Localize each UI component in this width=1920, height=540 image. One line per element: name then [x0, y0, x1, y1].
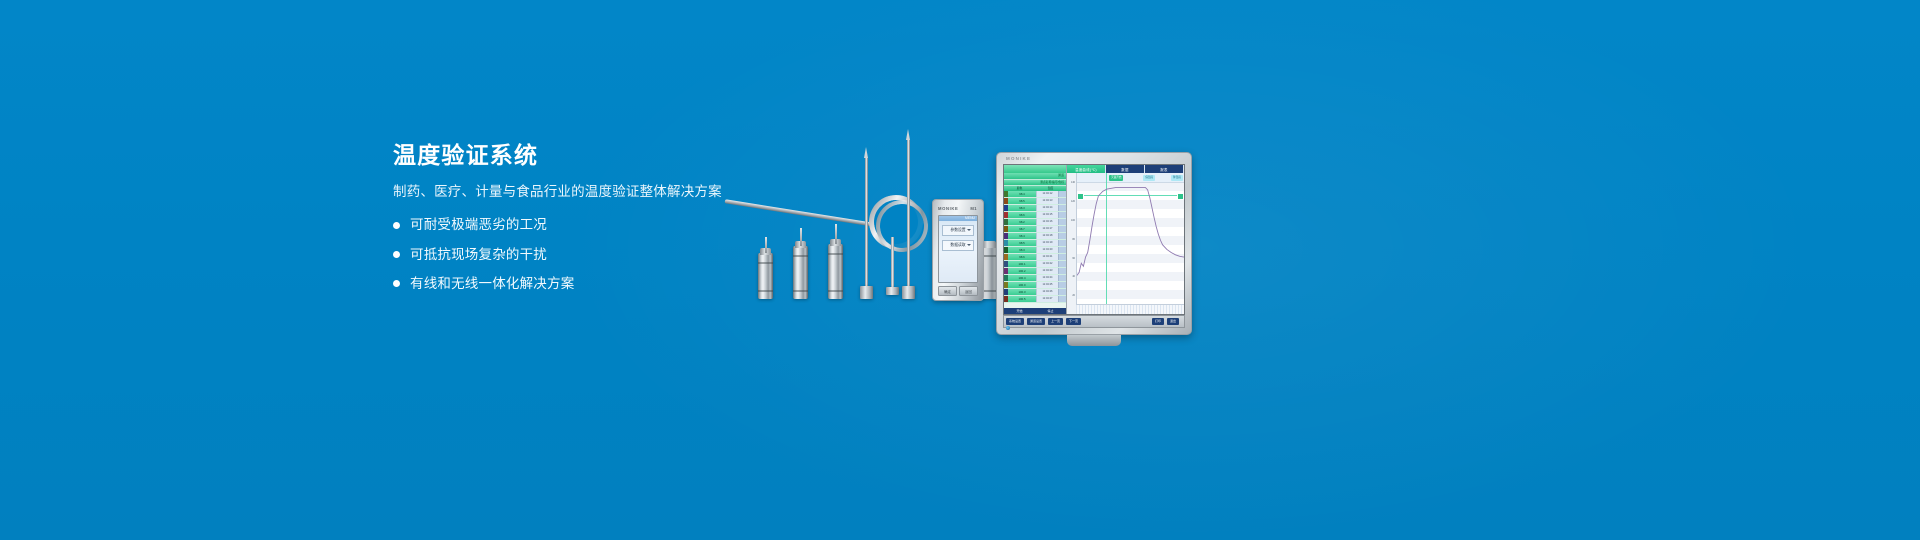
chart-y-tick: 140 — [1071, 181, 1075, 184]
bullet-dot-icon — [393, 222, 400, 229]
channel-temperature-value: 98.2 — [1008, 219, 1036, 225]
coil-probe-stem — [891, 237, 894, 289]
sensor-probe-small-3 — [828, 244, 843, 299]
chart-y-tick: 100 — [1071, 219, 1075, 222]
monitor-screen[interactable]: 温度曲线(℃) 数据 报表 通道 测点名称/编号/色标 颜色 温度 — [1003, 164, 1185, 315]
toolbar-button[interactable]: 上一页 — [1048, 318, 1063, 325]
chart-y-tick: 60 — [1072, 257, 1075, 260]
channel-timestamp: 11:04:21 — [1036, 254, 1058, 260]
channel-timestamp: 11:04:17 — [1036, 226, 1058, 232]
chevron-down-icon — [967, 229, 971, 231]
monitor-stand — [1067, 335, 1121, 346]
table-row[interactable]: 98.411:04:18 — [1004, 233, 1066, 240]
handheld-confirm-button[interactable]: 确定 — [938, 286, 957, 296]
channel-status-cell — [1058, 254, 1066, 260]
handheld-reader[interactable]: MONIKE M1 MENU 参数设置 数据读取 确定 返回 — [932, 199, 984, 301]
channel-timestamp: 11:04:12 — [1036, 191, 1058, 197]
sensor-ring — [793, 255, 808, 257]
channel-timestamp: 11:04:26 — [1036, 289, 1058, 295]
table-row[interactable]: 100.011:04:25 — [1004, 282, 1066, 289]
page-subtitle: 制药、医疗、计量与食品行业的温度验证整体解决方案 — [393, 184, 753, 200]
channel-status-cell — [1058, 289, 1066, 295]
chevron-down-icon — [967, 244, 971, 246]
table-row[interactable]: 98.511:04:19 — [1004, 240, 1066, 247]
coil-probe-ferrule — [886, 287, 899, 295]
handheld-menu-row[interactable]: 数据读取 — [942, 240, 974, 251]
sensor-ring — [793, 290, 808, 292]
channel-temperature-value: 98.3 — [1008, 205, 1036, 211]
handheld-menu-label: MENU — [965, 216, 975, 220]
chart-x-axis — [1076, 304, 1184, 314]
sensor-antenna — [765, 237, 767, 253]
channel-timestamp: 11:04:19 — [1036, 240, 1058, 246]
start-button[interactable]: 开始 — [1004, 308, 1035, 314]
hero-banner: 温度验证系统 制药、医疗、计量与食品行业的温度验证整体解决方案 可耐受极端恶劣的… — [0, 0, 1920, 540]
channel-status-cell — [1058, 191, 1066, 197]
channel-temperature-value: 98.4 — [1008, 191, 1036, 197]
channel-temperature-value: 100.3 — [1008, 289, 1036, 295]
table-row[interactable]: 100.411:04:24 — [1004, 275, 1066, 282]
channel-timestamp: 11:04:15 — [1036, 212, 1058, 218]
handheld-menu-row-label: 数据读取 — [950, 243, 965, 248]
channel-status-cell — [1058, 247, 1066, 253]
channel-status-cell — [1058, 275, 1066, 281]
tab-report[interactable]: 报表 — [1145, 165, 1183, 173]
toolbar-button[interactable]: 通道设置 — [1027, 318, 1045, 325]
stop-button[interactable]: 停止 — [1035, 308, 1066, 314]
channel-temperature-value: 100.2 — [1008, 268, 1036, 274]
chart-y-tick: 40 — [1072, 275, 1075, 278]
channel-temperature-value: 98.6 — [1008, 254, 1036, 260]
channel-temperature-value: 98.5 — [1008, 240, 1036, 246]
table-row[interactable]: 98.411:04:12 — [1004, 191, 1066, 198]
channel-status-cell — [1058, 296, 1066, 302]
bullet-dot-icon — [393, 280, 400, 287]
table-row[interactable]: 98.511:04:13 — [1004, 198, 1066, 205]
chart-y-tick: 80 — [1072, 238, 1075, 241]
monitor-power-indicator — [1006, 326, 1010, 330]
table-row[interactable]: 100.111:04:22 — [1004, 261, 1066, 268]
sensor-ring — [758, 262, 773, 264]
channel-status-cell — [1058, 219, 1066, 225]
channel-temperature-value: 98.4 — [1008, 233, 1036, 239]
product-montage: MONIKE M1 MENU 参数设置 数据读取 确定 返回 — [700, 110, 1500, 330]
sensor-antenna — [800, 228, 802, 246]
channel-temperature-value: 98.7 — [1008, 226, 1036, 232]
table-row[interactable]: 98.311:04:14 — [1004, 205, 1066, 212]
monitor-display: MONIKE 温度曲线(℃) 数据 报表 通道 测点名称/编号/色标 — [996, 152, 1192, 335]
page-title: 温度验证系统 — [393, 143, 753, 168]
needle-shaft — [907, 140, 910, 286]
channel-temperature-value: 98.3 — [1008, 247, 1036, 253]
channel-temperature-value: 100.5 — [1008, 296, 1036, 302]
table-row[interactable]: 100.311:04:26 — [1004, 289, 1066, 296]
sensor-body — [758, 253, 773, 299]
handheld-model: M1 — [970, 206, 977, 211]
hero-copy: 温度验证系统 制药、医疗、计量与食品行业的温度验证整体解决方案 可耐受极端恶劣的… — [393, 143, 753, 305]
feature-label: 可耐受极端恶劣的工况 — [410, 217, 547, 233]
app-body: 通道 测点名称/编号/色标 颜色 温度 98.411:04:1298.511:0… — [1004, 173, 1184, 314]
chart-series-line — [1077, 173, 1184, 280]
chart-y-axis: 14012010080604020 — [1067, 173, 1077, 314]
table-row[interactable]: 98.711:04:17 — [1004, 226, 1066, 233]
temperature-chart[interactable]: 14012010080604020 灭菌开始 保温段 降温段 — [1067, 173, 1184, 314]
chart-line-path — [1077, 188, 1184, 276]
channel-status-cell — [1058, 268, 1066, 274]
app-topbar-left — [1004, 165, 1067, 173]
channel-table-rows[interactable]: 98.411:04:1298.511:04:1398.311:04:1498.6… — [1004, 191, 1066, 308]
needle-base — [860, 286, 873, 299]
needle-base — [902, 286, 915, 299]
toolbar-button[interactable]: 下一页 — [1066, 318, 1081, 325]
handheld-button-row: 确定 返回 — [938, 286, 978, 296]
list-item: 可抵抗现场复杂的干扰 — [393, 247, 753, 263]
chart-y-tick: 20 — [1072, 294, 1075, 297]
channel-timestamp: 11:04:16 — [1036, 219, 1058, 225]
table-row[interactable]: 98.611:04:15 — [1004, 212, 1066, 219]
channel-timestamp: 11:04:13 — [1036, 198, 1058, 204]
list-item: 可耐受极端恶劣的工况 — [393, 217, 753, 233]
handheld-titlebar: MENU — [939, 216, 977, 221]
channel-status-cell — [1058, 212, 1066, 218]
tab-temperature-curve[interactable]: 温度曲线(℃) — [1067, 165, 1105, 173]
table-row[interactable]: 98.311:04:20 — [1004, 247, 1066, 254]
table-row[interactable]: 100.211:04:23 — [1004, 268, 1066, 275]
channel-temperature-value: 100.4 — [1008, 275, 1036, 281]
sensor-probe-small-2 — [793, 246, 808, 299]
channel-status-cell — [1058, 205, 1066, 211]
monitor-toolbar[interactable]: 系统设置通道设置上一页下一页打印退出 — [1003, 315, 1185, 328]
channel-timestamp: 11:04:24 — [1036, 275, 1058, 281]
toolbar-button[interactable]: 打印 — [1152, 318, 1164, 325]
channel-status-cell — [1058, 226, 1066, 232]
chart-y-tick: 120 — [1071, 200, 1075, 203]
channel-status-cell — [1058, 233, 1066, 239]
channel-timestamp: 11:04:27 — [1036, 296, 1058, 302]
table-row[interactable]: 100.511:04:27 — [1004, 296, 1066, 303]
handheld-back-button[interactable]: 返回 — [959, 286, 978, 296]
handheld-brand: MONIKE — [938, 206, 958, 211]
sensor-probe-small-1 — [758, 253, 773, 299]
sensor-ring — [828, 290, 843, 292]
handheld-menu-row[interactable]: 参数设置 — [942, 225, 974, 236]
channel-temperature-value: 98.5 — [1008, 198, 1036, 204]
bullet-dot-icon — [393, 251, 400, 258]
list-item: 有线和无线一体化解决方案 — [393, 276, 753, 292]
channel-timestamp: 11:04:23 — [1036, 268, 1058, 274]
channel-temperature-value: 100.1 — [1008, 261, 1036, 267]
coil-probe-tail — [725, 199, 876, 227]
toolbar-button[interactable]: 退出 — [1167, 318, 1179, 325]
channel-status-cell — [1058, 261, 1066, 267]
channel-timestamp: 11:04:22 — [1036, 261, 1058, 267]
monitor-brand: MONIKE — [1006, 156, 1031, 161]
feature-list: 可耐受极端恶劣的工况 可抵抗现场复杂的干扰 有线和无线一体化解决方案 — [393, 217, 753, 292]
channel-temperature-value: 100.0 — [1008, 282, 1036, 288]
channel-status-cell — [1058, 282, 1066, 288]
tab-data[interactable]: 数据 — [1106, 165, 1144, 173]
app-tabs: 温度曲线(℃) 数据 报表 — [1067, 165, 1184, 173]
table-row[interactable]: 98.611:04:21 — [1004, 254, 1066, 261]
sensor-ring — [828, 253, 843, 255]
sensor-ring — [758, 290, 773, 292]
needle-shaft — [865, 158, 868, 286]
channel-temperature-value: 98.6 — [1008, 212, 1036, 218]
channel-table-footer: 开始 停止 — [1004, 308, 1066, 314]
needle-tip-icon — [906, 129, 910, 140]
app-topbar: 温度曲线(℃) 数据 报表 — [1004, 165, 1184, 173]
channel-timestamp: 11:04:14 — [1036, 205, 1058, 211]
channel-timestamp: 11:04:20 — [1036, 247, 1058, 253]
channel-status-cell — [1058, 198, 1066, 204]
channel-timestamp: 11:04:18 — [1036, 233, 1058, 239]
channel-status-cell — [1058, 240, 1066, 246]
table-row[interactable]: 98.211:04:16 — [1004, 219, 1066, 226]
handheld-screen[interactable]: MENU 参数设置 数据读取 — [938, 215, 978, 283]
needle-tip-icon — [864, 147, 868, 158]
sensor-antenna — [835, 224, 837, 244]
handheld-menu-row-label: 参数设置 — [950, 228, 965, 233]
channel-timestamp: 11:04:25 — [1036, 282, 1058, 288]
feature-label: 有线和无线一体化解决方案 — [410, 276, 574, 292]
chart-plot-area[interactable]: 灭菌开始 保温段 降温段 — [1077, 173, 1184, 314]
channel-table[interactable]: 通道 测点名称/编号/色标 颜色 温度 98.411:04:1298.511:0… — [1004, 173, 1067, 314]
feature-label: 可抵抗现场复杂的干扰 — [410, 247, 547, 263]
toolbar-button[interactable]: 系统设置 — [1006, 318, 1024, 325]
